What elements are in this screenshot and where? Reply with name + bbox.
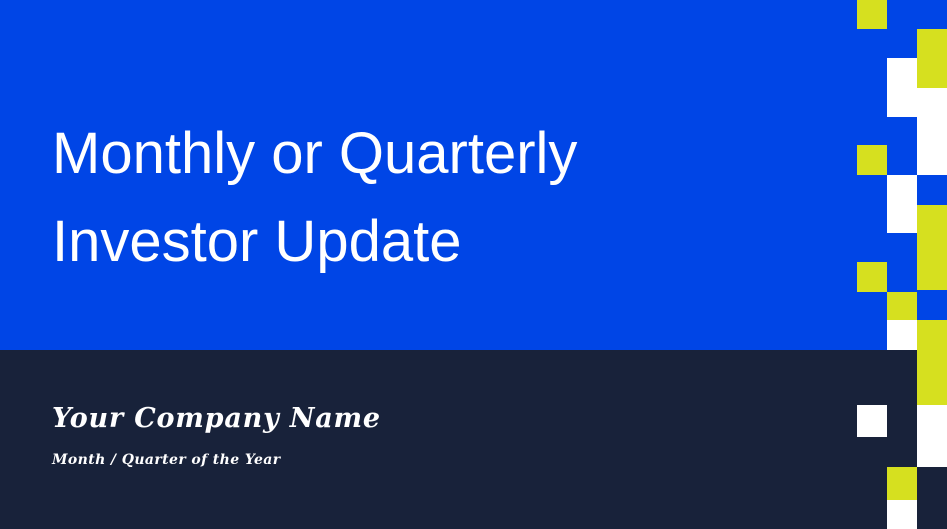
period-subtitle: Month / Quarter of the Year [52, 450, 752, 470]
slide-canvas: Monthly or Quarterly Investor Update You… [0, 0, 947, 529]
company-name: Your Company Name [52, 402, 752, 436]
title-line-2: Investor Update [52, 198, 752, 286]
title-line-1: Monthly or Quarterly [52, 110, 752, 198]
footer-block: Your Company Name Month / Quarter of the… [52, 402, 752, 470]
title-block: Monthly or Quarterly Investor Update [52, 110, 752, 286]
